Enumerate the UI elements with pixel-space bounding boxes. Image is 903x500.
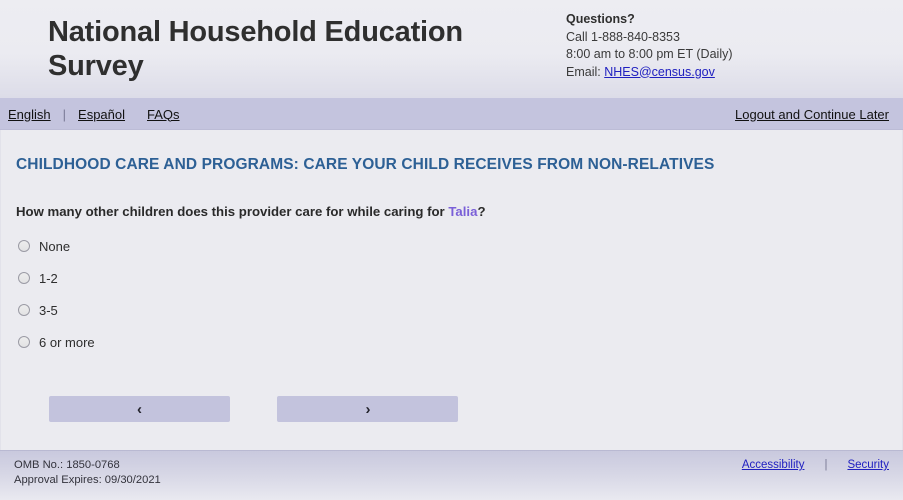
nav-link-espanol[interactable]: Español [78, 107, 125, 122]
language-nav-bar: English | Español FAQs Logout and Contin… [0, 98, 903, 130]
accessibility-link[interactable]: Accessibility [742, 459, 805, 471]
nav-link-faqs[interactable]: FAQs [147, 107, 180, 122]
email-line: Email: NHES@census.gov [566, 64, 733, 82]
option-label-6-or-more[interactable]: 6 or more [39, 335, 95, 350]
main-content: CHILDHOOD CARE AND PROGRAMS: CARE YOUR C… [0, 130, 903, 450]
nav-link-english[interactable]: English [8, 107, 51, 122]
option-label-none[interactable]: None [39, 239, 70, 254]
next-button[interactable]: › [277, 396, 458, 422]
footer-omb-block: OMB No.: 1850-0768 Approval Expires: 09/… [14, 458, 161, 488]
option-row[interactable]: 1-2 [18, 262, 438, 294]
nav-links-left: English | Español FAQs [8, 98, 180, 130]
survey-navigation-buttons: ‹ › [49, 396, 458, 422]
footer-links: Accessibility | Security [742, 459, 889, 471]
back-button[interactable]: ‹ [49, 396, 230, 422]
radio-button-6-or-more[interactable] [18, 336, 30, 348]
nav-separator: | [51, 107, 78, 122]
option-row[interactable]: None [18, 230, 438, 262]
radio-button-none[interactable] [18, 240, 30, 252]
email-label: Email: [566, 65, 601, 79]
site-header: National Household Education Survey Ques… [0, 0, 903, 98]
email-link[interactable]: NHES@census.gov [604, 65, 715, 79]
hours-line: 8:00 am to 8:00 pm ET (Daily) [566, 46, 733, 64]
radio-button-3-5[interactable] [18, 304, 30, 316]
security-link[interactable]: Security [847, 459, 889, 471]
logout-continue-later-link[interactable]: Logout and Continue Later [735, 107, 889, 122]
option-row[interactable]: 6 or more [18, 326, 438, 358]
question-prefix: How many other children does this provid… [16, 204, 448, 219]
header-contact-block: Questions? Call 1-888-840-8353 8:00 am t… [566, 11, 733, 81]
radio-button-1-2[interactable] [18, 272, 30, 284]
footer-separator: | [804, 459, 847, 471]
question-suffix: ? [477, 204, 485, 219]
question-text: How many other children does this provid… [16, 204, 486, 219]
child-name: Talia [448, 204, 477, 219]
chevron-right-icon: › [365, 401, 370, 418]
option-row[interactable]: 3-5 [18, 294, 438, 326]
option-label-1-2[interactable]: 1-2 [39, 271, 58, 286]
nav-links-right: Logout and Continue Later [735, 98, 889, 130]
omb-number: OMB No.: 1850-0768 [14, 458, 161, 473]
phone-line: Call 1-888-840-8353 [566, 29, 733, 47]
approval-expires: Approval Expires: 09/30/2021 [14, 473, 161, 488]
site-title: National Household Education Survey [48, 15, 548, 83]
site-footer: OMB No.: 1850-0768 Approval Expires: 09/… [0, 450, 903, 500]
questions-label: Questions? [566, 11, 733, 29]
chevron-left-icon: ‹ [137, 401, 142, 418]
page-title: CHILDHOOD CARE AND PROGRAMS: CARE YOUR C… [16, 156, 714, 174]
option-label-3-5[interactable]: 3-5 [39, 303, 58, 318]
answer-options-group: None 1-2 3-5 6 or more [18, 230, 438, 358]
